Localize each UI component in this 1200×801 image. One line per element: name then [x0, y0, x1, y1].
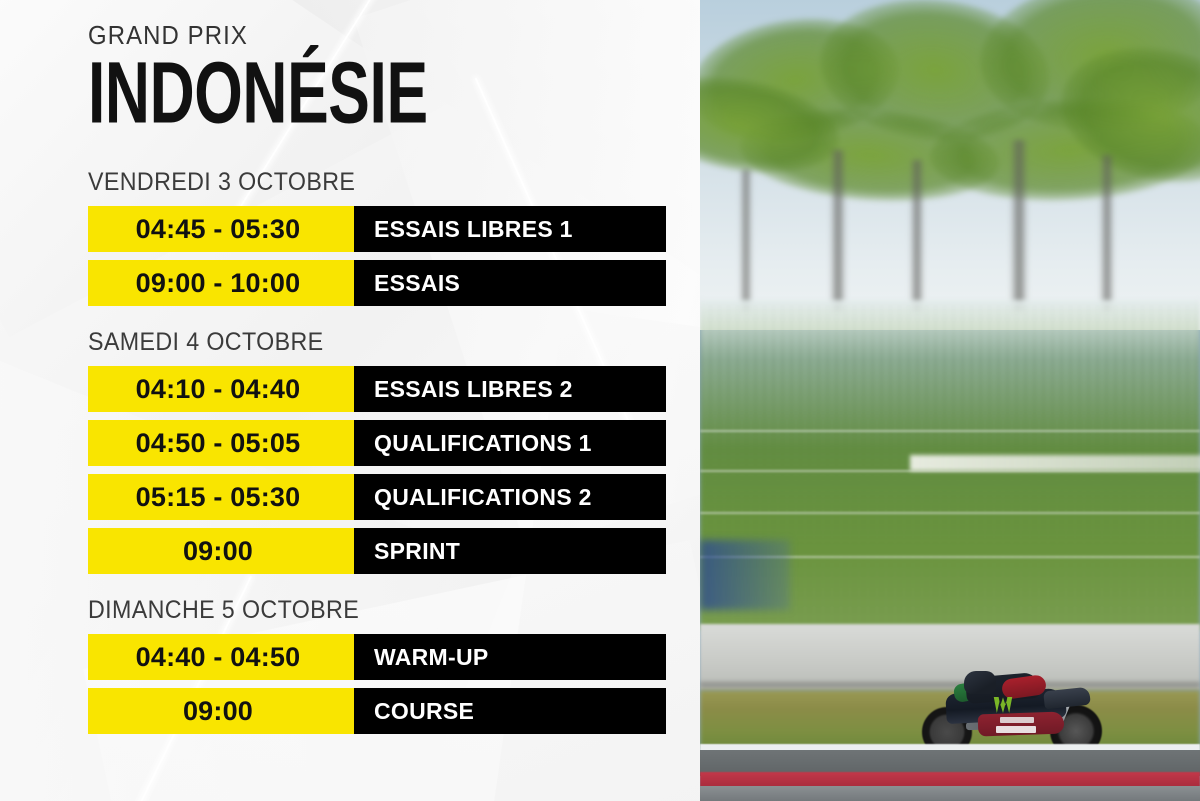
day-title: VENDREDI 3 OCTOBRE: [88, 168, 626, 197]
session-time: 04:50 - 05:05: [88, 420, 354, 466]
day-title: SAMEDI 4 OCTOBRE: [88, 328, 626, 357]
session-row[interactable]: 09:00 COURSE: [88, 688, 666, 734]
page-title: GRAND PRIX INDONÉSIE: [88, 22, 513, 125]
photo-motorcycle: [918, 665, 1118, 755]
photo-trackside-banner: [910, 455, 1200, 471]
rider-helmet: [964, 671, 996, 694]
session-label: QUALIFICATIONS 2: [354, 474, 666, 520]
session-time: 09:00: [88, 688, 354, 734]
session-label: ESSAIS: [354, 260, 666, 306]
race-photo: [700, 0, 1200, 801]
session-row[interactable]: 04:50 - 05:05 QUALIFICATIONS 1: [88, 420, 666, 466]
photo-kerb-red: [700, 772, 1200, 787]
session-row[interactable]: 09:00 - 10:00 ESSAIS: [88, 260, 666, 306]
day-block-saturday: SAMEDI 4 OCTOBRE 04:10 - 04:40 ESSAIS LI…: [88, 328, 666, 574]
session-row[interactable]: 09:00 SPRINT: [88, 528, 666, 574]
session-label: WARM-UP: [354, 634, 666, 680]
session-row[interactable]: 05:15 - 05:30 QUALIFICATIONS 2: [88, 474, 666, 520]
session-time: 04:10 - 04:40: [88, 366, 354, 412]
photo-fence-wire: [700, 430, 1200, 432]
session-time: 09:00 - 10:00: [88, 260, 354, 306]
day-block-sunday: DIMANCHE 5 OCTOBRE 04:40 - 04:50 WARM-UP…: [88, 596, 666, 734]
session-label: ESSAIS LIBRES 1: [354, 206, 666, 252]
photo-blue-signage: [700, 540, 790, 610]
session-label: SPRINT: [354, 528, 666, 574]
sponsor-decal: [996, 726, 1036, 733]
day-block-friday: VENDREDI 3 OCTOBRE 04:45 - 05:30 ESSAIS …: [88, 168, 666, 306]
country-name: INDONÉSIE: [88, 53, 428, 133]
photo-palm-trees: [700, 0, 1200, 300]
sponsor-decal: [1000, 717, 1034, 723]
day-title: DIMANCHE 5 OCTOBRE: [88, 596, 626, 625]
session-label: ESSAIS LIBRES 2: [354, 366, 666, 412]
session-time: 05:15 - 05:30: [88, 474, 354, 520]
session-row[interactable]: 04:40 - 04:50 WARM-UP: [88, 634, 666, 680]
session-label: COURSE: [354, 688, 666, 734]
photo-fence-wire: [700, 512, 1200, 514]
session-label: QUALIFICATIONS 1: [354, 420, 666, 466]
photo-kerb-grey: [700, 786, 1200, 801]
schedule-graphic: GRAND PRIX INDONÉSIE VENDREDI 3 OCTOBRE …: [0, 0, 1200, 801]
session-row[interactable]: 04:10 - 04:40 ESSAIS LIBRES 2: [88, 366, 666, 412]
session-time: 09:00: [88, 528, 354, 574]
session-row[interactable]: 04:45 - 05:30 ESSAIS LIBRES 1: [88, 206, 666, 252]
session-time: 04:40 - 04:50: [88, 634, 354, 680]
session-time: 04:45 - 05:30: [88, 206, 354, 252]
session-schedule: VENDREDI 3 OCTOBRE 04:45 - 05:30 ESSAIS …: [88, 168, 666, 734]
